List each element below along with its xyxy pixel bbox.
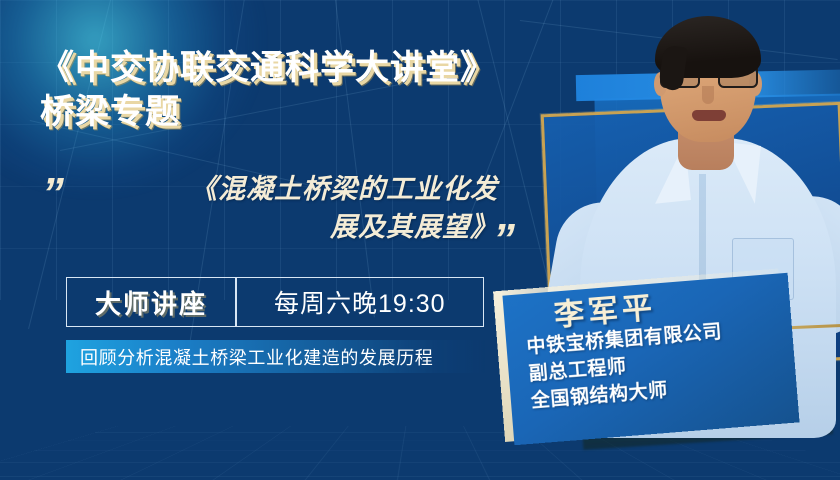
main-title: 《中交协联交通科学大讲堂》 桥梁专题 [40,46,560,134]
lecture-schedule: 每周六晚19:30 [237,278,483,326]
subtitle: 《混凝土桥梁的工业化发 展及其展望》 [88,170,498,247]
photo-hair [655,16,761,78]
quote-close-icon: ” [493,218,511,262]
speaker-panel-content: 李军平 中铁宝桥集团有限公司 副总工程师 全国钢结构大师 [523,281,789,415]
subtitle-block: ” 《混凝土桥梁的工业化发 展及其展望》 ” [38,170,538,265]
lecture-label: 大师讲座 [67,278,235,326]
photo-mouth [692,110,726,121]
speaker-info-panel: 李军平 中铁宝桥集团有限公司 副总工程师 全国钢结构大师 [502,273,799,445]
subtitle-line2: 展及其展望》 [330,212,498,242]
main-title-line1: 《中交协联交通科学大讲堂》 [40,49,495,87]
main-title-line2: 桥梁专题 [40,90,560,134]
promo-poster: 《中交协联交通科学大讲堂》 桥梁专题 ” 《混凝土桥梁的工业化发 展及其展望》 … [0,0,840,480]
title-block: 《中交协联交通科学大讲堂》 桥梁专题 [40,46,560,134]
quote-open-icon: ” [42,172,60,216]
tagline-bar: 回顾分析混凝土桥梁工业化建造的发展历程 [66,340,486,373]
subtitle-line1: 《混凝土桥梁的工业化发 [190,174,498,204]
lecture-info-box: 大师讲座 每周六晚19:30 [66,277,484,327]
